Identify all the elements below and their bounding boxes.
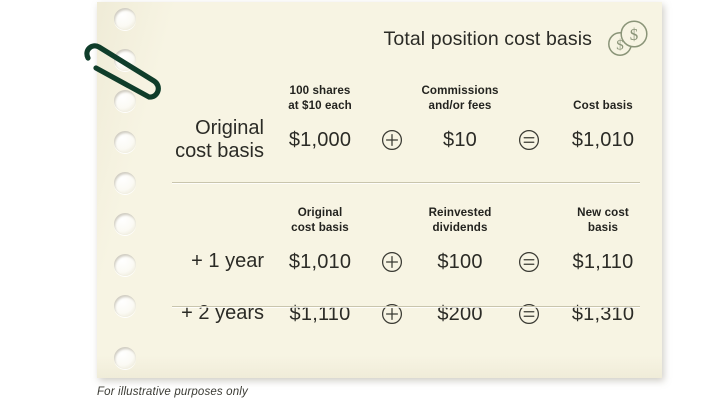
operator-plus [366, 251, 418, 273]
punch-hole [114, 131, 136, 153]
row-label-original-cost-basis: Original cost basis [160, 117, 274, 163]
header-line-2: basis [556, 221, 650, 236]
column-header-shares: 100 shares at $10 each [274, 84, 366, 114]
cell-reinvested-dividends-value: $100 [418, 251, 502, 274]
cell-cost-basis-value: $1,010 [556, 129, 650, 152]
operator-equals [502, 129, 556, 151]
header-line-1: Commissions [418, 84, 502, 99]
column-header-reinvested-dividends: Reinvested dividends [418, 206, 502, 236]
header-line-2: and/or fees [418, 99, 502, 114]
coins-dollar-icon: $ $ [606, 19, 650, 59]
header-line-1: Cost basis [556, 99, 650, 114]
table-divider [172, 306, 640, 307]
operator-equals [502, 251, 556, 273]
operator-plus [366, 129, 418, 151]
punch-hole [114, 49, 136, 71]
row-label-line-2: cost basis [160, 140, 264, 163]
punch-hole [114, 254, 136, 276]
cost-basis-table-one: 100 shares at $10 each Commissions and/o… [160, 74, 650, 166]
column-header-new-cost-basis: New cost basis [556, 206, 650, 236]
column-header-cost-basis: Cost basis [556, 99, 650, 114]
table-one-header-row: 100 shares at $10 each Commissions and/o… [160, 74, 650, 114]
circled-equals-icon [518, 129, 540, 151]
circled-plus-icon [381, 129, 403, 151]
header-line-2: at $10 each [274, 99, 366, 114]
illustrative-purposes-caption: For illustrative purposes only [97, 386, 248, 398]
page-title: Total position cost basis [384, 28, 592, 51]
circled-plus-icon [381, 251, 403, 273]
column-header-original-cost-basis: Original cost basis [274, 206, 366, 236]
table-row: + 2 years $1,110 $200 $1,310 [160, 288, 650, 340]
punch-hole [114, 8, 136, 30]
header-line-1: Reinvested [418, 206, 502, 221]
punch-hole [114, 213, 136, 235]
row-label-plus-one-year: + 1 year [160, 250, 274, 273]
header-line-2: cost basis [274, 221, 366, 236]
row-label-line-1: Original [160, 117, 264, 140]
header-line-2: dividends [418, 221, 502, 236]
header-line-1: Original [274, 206, 366, 221]
cell-commissions-value: $10 [418, 129, 502, 152]
punch-hole [114, 295, 136, 317]
table-row: Original cost basis $1,000 $10 $1,010 [160, 114, 650, 166]
punch-hole [114, 347, 136, 369]
column-header-commissions: Commissions and/or fees [418, 84, 502, 114]
punch-hole [114, 172, 136, 194]
cost-basis-table-two: Original cost basis Reinvested dividends… [160, 196, 650, 340]
punch-hole [114, 90, 136, 112]
cell-shares-value: $1,000 [274, 129, 366, 152]
table-divider [172, 182, 640, 183]
circled-equals-icon [518, 251, 540, 273]
table-row: + 1 year $1,010 $100 $1,110 [160, 236, 650, 288]
svg-text:$: $ [630, 25, 639, 44]
cell-new-cost-basis-value: $1,110 [556, 251, 650, 274]
cell-original-cost-basis-value: $1,010 [274, 251, 366, 274]
header-line-1: 100 shares [274, 84, 366, 99]
title-row: Total position cost basis $ $ [270, 18, 650, 60]
table-two-header-row: Original cost basis Reinvested dividends… [160, 196, 650, 236]
header-line-1: New cost [556, 206, 650, 221]
